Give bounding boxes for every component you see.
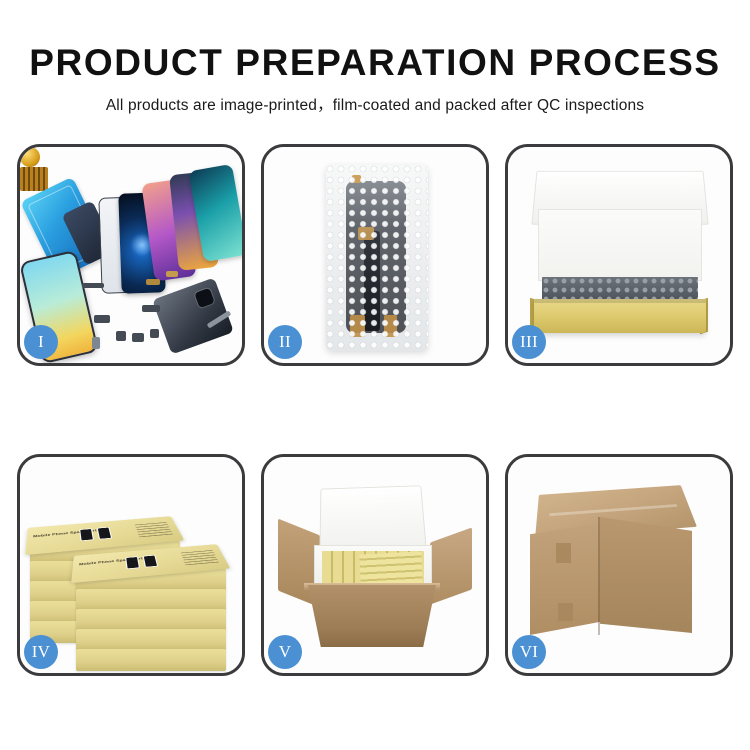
stacked-box-icon	[76, 609, 226, 631]
step-badge-3: III	[512, 325, 546, 359]
step-badge-4: IV	[24, 635, 58, 669]
step-panel-foam-boxing[interactable]: III	[505, 144, 733, 366]
small-part-icon	[146, 279, 160, 285]
small-part-icon	[94, 315, 110, 323]
stacked-box-icon	[76, 589, 226, 611]
stacked-box-icon	[76, 649, 226, 671]
step-panel-box-stacking[interactable]: Mobile Phone Spare Parts Mobile Phone Sp…	[17, 454, 245, 676]
phone-print-icon	[79, 528, 94, 541]
label-text-lines-icon	[134, 520, 173, 537]
phone-print-icon	[97, 527, 112, 540]
step-badge-5: V	[268, 635, 302, 669]
header: PRODUCT PREPARATION PROCESS All products…	[0, 0, 750, 115]
page-title: PRODUCT PREPARATION PROCESS	[0, 42, 750, 84]
step-badge-2: II	[268, 325, 302, 359]
step-panel-bubble-wrapping[interactable]: II	[261, 144, 489, 366]
stacked-box-icon	[76, 629, 226, 651]
label-text-lines-icon	[180, 548, 219, 565]
small-part-icon	[82, 283, 104, 288]
step-badge-6: VI	[512, 635, 546, 669]
carton-front-icon	[308, 585, 436, 647]
carton-right-face-icon	[600, 517, 692, 633]
bubble-texture-icon	[326, 165, 428, 351]
process-steps-grid: I II	[17, 144, 733, 676]
box-stack-icon: Mobile Phone Spare Parts Mobile Phone Sp…	[28, 483, 240, 659]
small-part-icon	[142, 305, 160, 312]
small-part-icon	[166, 271, 178, 277]
carton-flap-right-icon	[430, 527, 472, 604]
phone-print-icon	[125, 556, 140, 569]
small-part-icon	[150, 329, 159, 338]
carton-tape-icon	[556, 543, 571, 563]
bubble-wrap-bag-icon	[326, 165, 428, 351]
foam-sheet-icon	[538, 209, 702, 281]
small-part-icon	[132, 333, 144, 342]
yellow-boxes-inside-icon	[359, 551, 423, 586]
gold-coil-icon	[20, 147, 40, 167]
chip-array-icon	[20, 167, 48, 191]
step-panel-carton-sealed[interactable]: VI	[505, 454, 733, 676]
page-subtitle: All products are image-printed，film-coat…	[0, 93, 750, 115]
step-panel-carton-loading[interactable]: V	[261, 454, 489, 676]
carton-tape-icon	[558, 603, 573, 621]
step-panel-parts-inspection[interactable]: I	[17, 144, 245, 366]
foam-lid-icon	[319, 485, 426, 553]
phone-print-icon	[143, 555, 158, 568]
product-preparation-infographic: PRODUCT PREPARATION PROCESS All products…	[0, 0, 750, 750]
carton-edge-icon	[598, 517, 600, 635]
small-part-icon	[92, 337, 100, 349]
step-badge-1: I	[24, 325, 58, 359]
small-part-icon	[116, 331, 126, 341]
yellow-box-front-icon	[534, 299, 706, 333]
